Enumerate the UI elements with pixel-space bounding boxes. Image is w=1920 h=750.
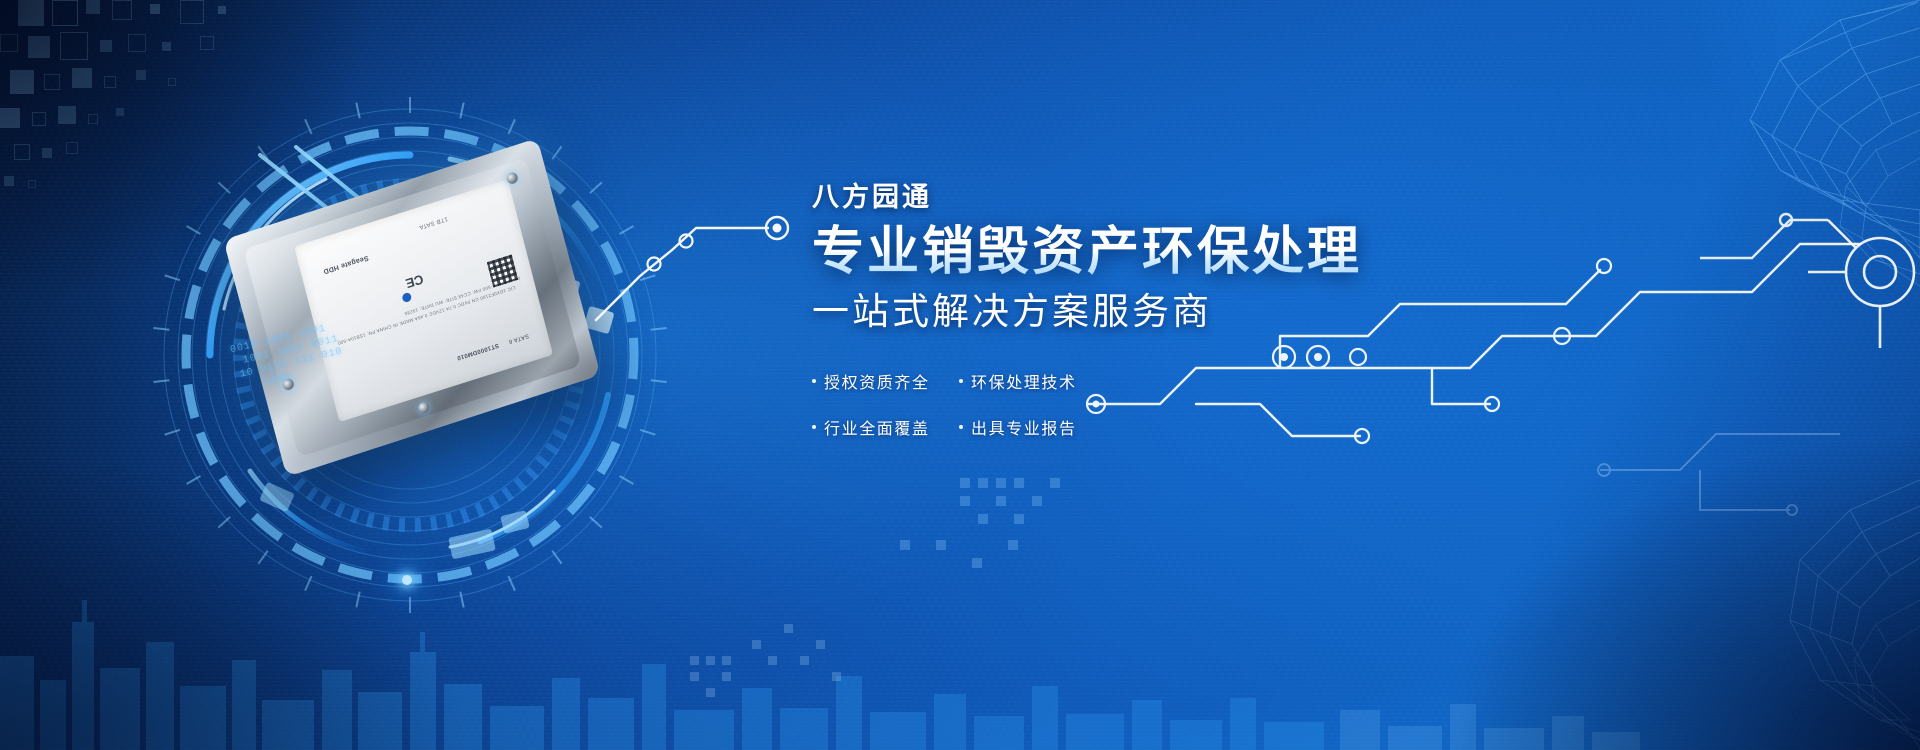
bullet-dot-icon [812, 379, 816, 383]
feature-bullet-list: 授权资质齐全 环保处理技术 行业全面覆盖 出具专业报告 [812, 369, 1572, 439]
list-item: 授权资质齐全 [812, 369, 943, 393]
bullet-label: 授权资质齐全 [824, 369, 930, 393]
bullet-label: 行业全面覆盖 [824, 415, 930, 439]
list-item: 行业全面覆盖 [812, 415, 943, 439]
bullet-dot-icon [812, 425, 816, 429]
list-item: 出具专业报告 [959, 415, 1099, 439]
city-skyline-silhouette [0, 560, 1920, 750]
bullet-label: 环保处理技术 [971, 369, 1077, 393]
banner-copy-block: 八方园通 专业销毁资产环保处理 一站式解决方案服务商 授权资质齐全 环保处理技术… [812, 182, 1572, 439]
bullet-dot-icon [959, 425, 963, 429]
brand-name: 八方园通 [812, 182, 1572, 213]
page-subtitle: 一站式解决方案服务商 [812, 290, 1572, 334]
promo-banner: Seagate HDD 1TB SATA LIC 1DX0F2100 CN 5V… [0, 0, 1920, 750]
list-item: 环保处理技术 [959, 369, 1099, 393]
bullet-label: 出具专业报告 [971, 415, 1077, 439]
page-title: 专业销毁资产环保处理 [812, 222, 1572, 282]
bullet-dot-icon [959, 379, 963, 383]
